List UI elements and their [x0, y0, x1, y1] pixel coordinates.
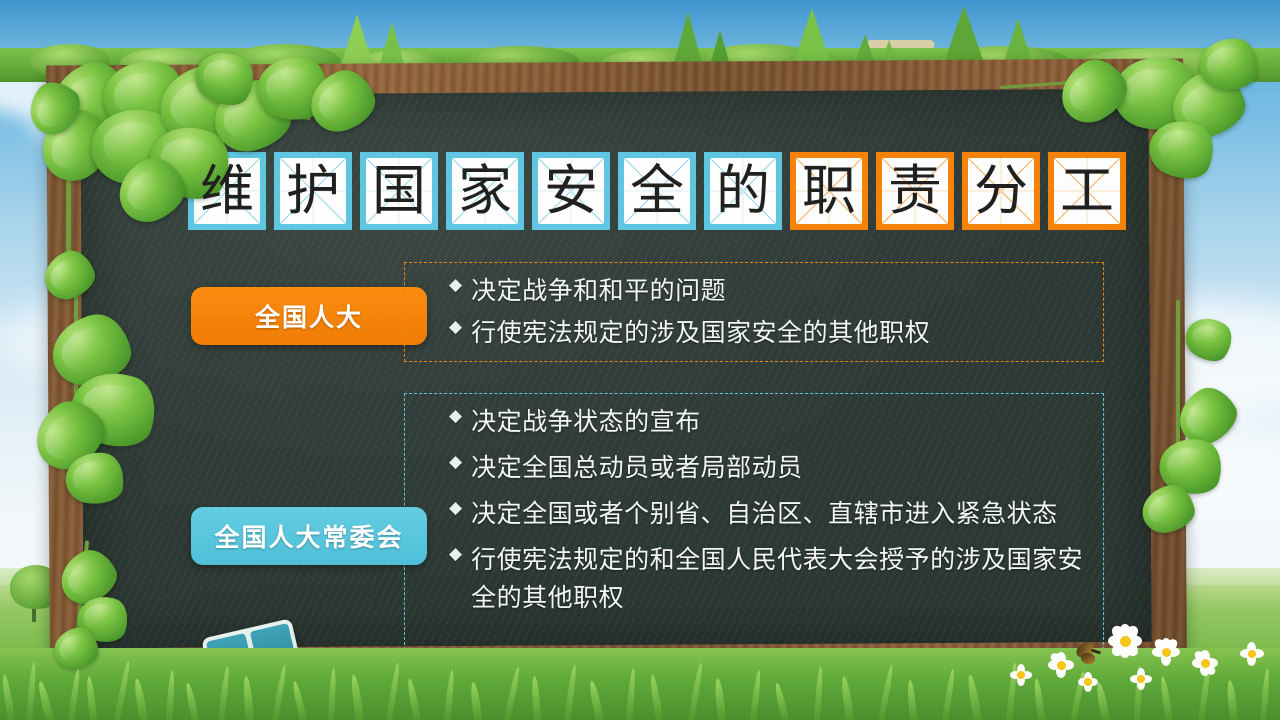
title-char-box: 国: [360, 152, 438, 230]
list-item: ◆ 决定全国总动员或者局部动员: [449, 449, 1093, 487]
list-item-text: 决定全国或者个别省、自治区、直辖市进入紧急状态: [471, 495, 1058, 533]
title-char-box: 家: [446, 152, 524, 230]
title-char: 安: [544, 164, 598, 218]
section-content-npc: ◆ 决定战争和和平的问题 ◆ 行使宪法规定的涉及国家安全的其他职权: [404, 262, 1104, 362]
title-char-box: 安: [532, 152, 610, 230]
title-char: 分: [974, 164, 1028, 218]
title-char-box: 分: [962, 152, 1040, 230]
list-item: ◆ 决定战争状态的宣布: [449, 403, 1093, 441]
section-label-text: 全国人大: [255, 298, 363, 334]
list-item-text: 行使宪法规定的和全国人民代表大会授予的涉及国家安全的其他职权: [471, 541, 1093, 617]
diamond-bullet-icon: ◆: [449, 403, 462, 429]
bullet-list: ◆ 决定战争和和平的问题 ◆ 行使宪法规定的涉及国家安全的其他职权: [449, 272, 1093, 356]
slide-canvas: 维 护 国 家 安 全 的 职: [0, 0, 1280, 720]
title-char-box: 工: [1048, 152, 1126, 230]
diamond-bullet-icon: ◆: [449, 314, 462, 340]
list-item-text: 决定战争和和平的问题: [471, 272, 726, 310]
title-char-box: 职: [790, 152, 868, 230]
list-item: ◆ 决定全国或者个别省、自治区、直辖市进入紧急状态: [449, 495, 1093, 533]
list-item: ◆ 行使宪法规定的和全国人民代表大会授予的涉及国家安全的其他职权: [449, 541, 1093, 617]
diamond-bullet-icon: ◆: [449, 541, 462, 567]
list-item-text: 决定战争状态的宣布: [471, 403, 701, 441]
title-char: 的: [716, 164, 770, 218]
section-label-npcsc[interactable]: 全国人大常委会: [191, 507, 427, 565]
diamond-bullet-icon: ◆: [449, 449, 462, 475]
title-char: 全: [630, 164, 684, 218]
title-char: 职: [802, 164, 856, 218]
title-char: 责: [888, 164, 942, 218]
section-content-npcsc: ◆ 决定战争状态的宣布 ◆ 决定全国总动员或者局部动员 ◆ 决定全国或者个别省、…: [404, 393, 1104, 655]
title-char: 维: [200, 164, 254, 218]
list-item-text: 行使宪法规定的涉及国家安全的其他职权: [471, 314, 930, 352]
section-label-npc[interactable]: 全国人大: [191, 287, 427, 345]
diamond-bullet-icon: ◆: [449, 272, 462, 298]
title-char-box: 护: [274, 152, 352, 230]
section-label-text: 全国人大常委会: [214, 518, 403, 554]
title-char: 家: [458, 164, 512, 218]
title-char-box: 全: [618, 152, 696, 230]
list-item: ◆ 行使宪法规定的涉及国家安全的其他职权: [449, 314, 1093, 352]
title-char-box: 责: [876, 152, 954, 230]
title-char-box: 的: [704, 152, 782, 230]
conifer-tree: [340, 14, 374, 68]
bullet-list: ◆ 决定战争状态的宣布 ◆ 决定全国总动员或者局部动员 ◆ 决定全国或者个别省、…: [449, 403, 1093, 625]
title-char: 国: [372, 164, 426, 218]
title-char: 护: [286, 164, 340, 218]
page-title: 维 护 国 家 安 全 的 职: [188, 152, 1126, 230]
list-item-text: 决定全国总动员或者局部动员: [471, 449, 803, 487]
butterfly-icon: [1076, 644, 1104, 666]
title-char: 工: [1060, 164, 1114, 218]
title-char-box: 维: [188, 152, 266, 230]
list-item: ◆ 决定战争和和平的问题: [449, 272, 1093, 310]
diamond-bullet-icon: ◆: [449, 495, 462, 521]
